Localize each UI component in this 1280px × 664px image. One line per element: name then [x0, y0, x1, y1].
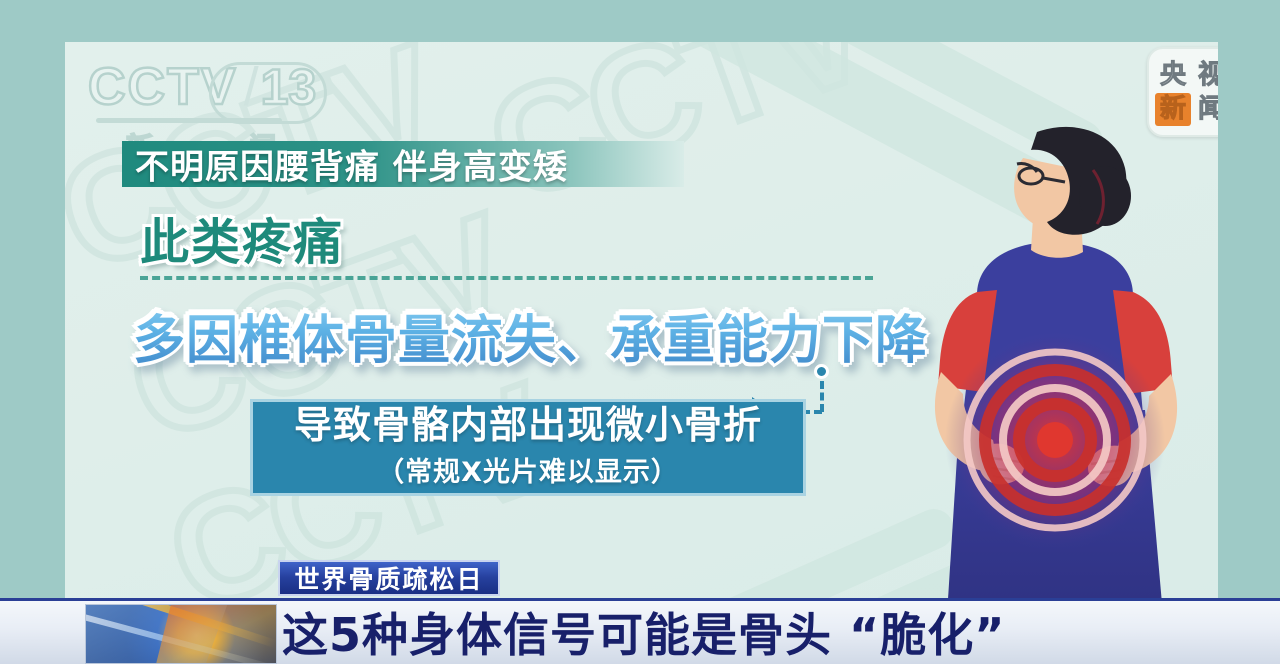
headline-banner: 不明原因腰背痛 伴身高变矮	[122, 141, 684, 187]
green-headline: 此类疼痛	[140, 203, 344, 274]
globe-streak-blue	[85, 612, 277, 664]
chyron-topic-badge-label: 世界骨质疏松日	[294, 560, 483, 596]
callout-connector	[800, 364, 860, 422]
headline-banner-text: 不明原因腰背痛 伴身高变矮	[135, 140, 568, 189]
hair-bun-shape	[1079, 166, 1131, 226]
logo-underline-icon	[96, 118, 282, 123]
blue-headline: 多因椎体骨量流失、承重能力下降	[133, 298, 928, 373]
news-globe-graphic	[85, 604, 277, 664]
connector-vertical-line	[820, 381, 824, 412]
connector-dot-icon	[814, 364, 829, 379]
chyron-headline: 这5种身体信号可能是骨头 “脆化”	[282, 604, 1182, 660]
info-callout-box: 导致骨骼内部出现微小骨折 （常规X光片难以显示）	[250, 399, 806, 496]
broadcast-screenshot: CCTV CCTV CCTV CCTV CCTV / 13 新 闻 央	[0, 0, 1280, 664]
corner-logo-char-1: 央	[1155, 59, 1191, 92]
illustration-svg	[905, 110, 1205, 627]
woman-back-pain-illustration	[905, 110, 1205, 627]
corner-logo-char-2: 视	[1193, 59, 1218, 92]
dashed-divider	[140, 276, 873, 280]
info-box-line-2: （常规X光片难以显示）	[377, 450, 679, 489]
info-box-line-1: 导致骨骼内部出现微小骨折	[294, 406, 762, 446]
chyron-topic-badge: 世界骨质疏松日	[278, 560, 500, 596]
logo-oval-icon	[209, 62, 327, 124]
pain-center	[1037, 422, 1073, 458]
